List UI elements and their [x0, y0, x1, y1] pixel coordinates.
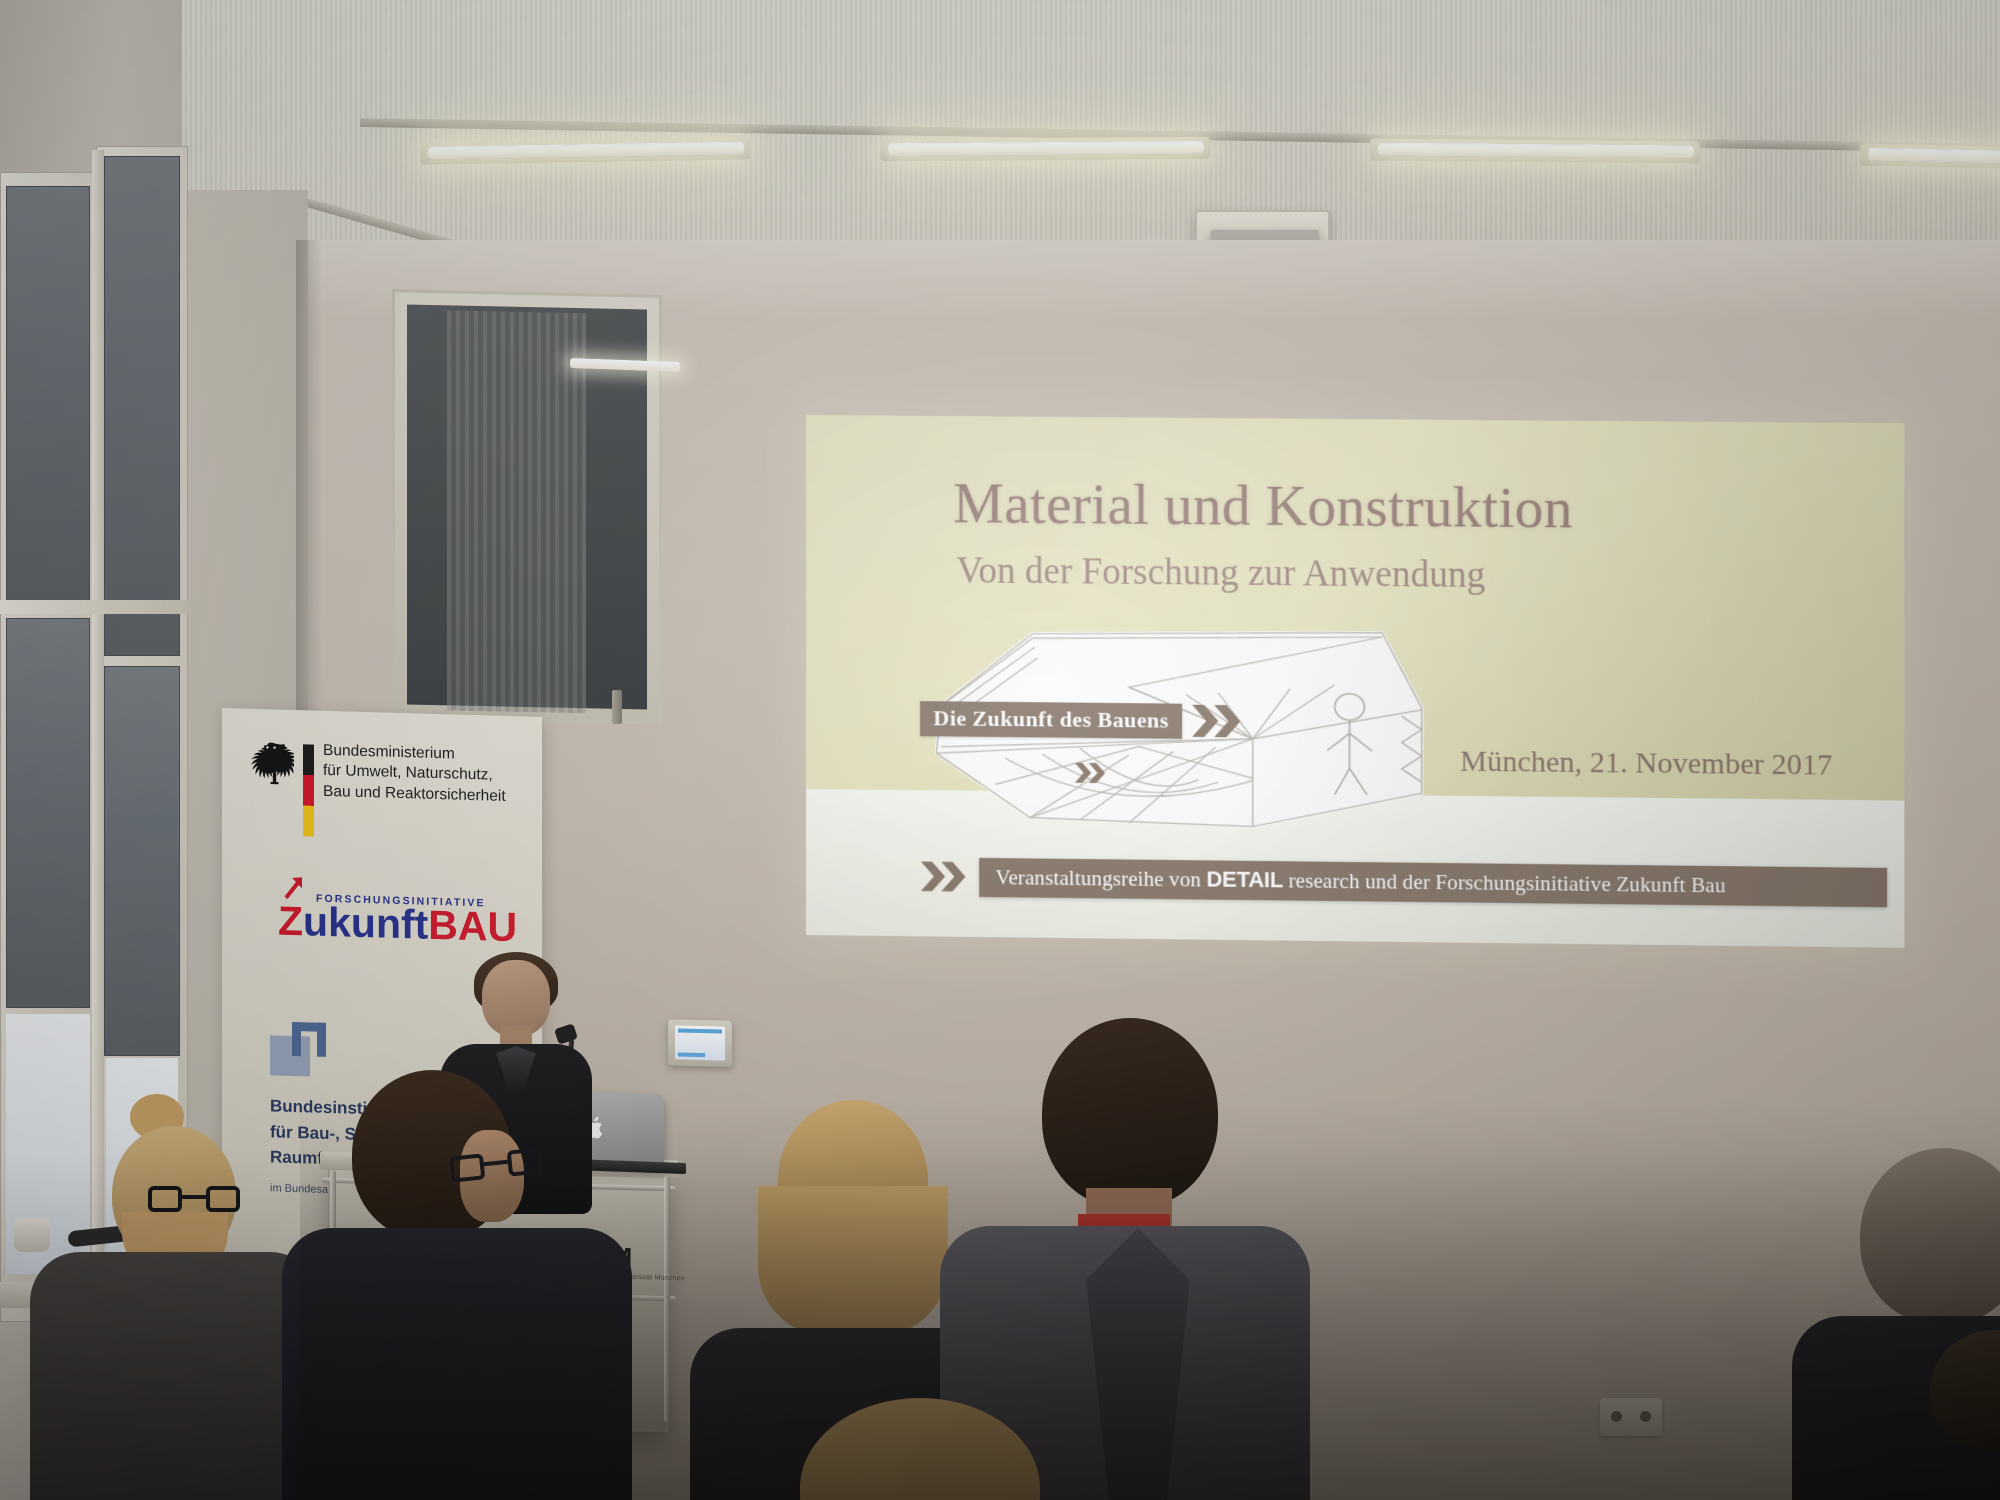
zukunftbau-ukunft: ukunft: [303, 898, 428, 947]
curtain: [447, 310, 586, 713]
fluorescent-tube-light: [888, 141, 1204, 156]
zukunftbau-bau: BAU: [428, 902, 517, 950]
german-flag-bar-icon: [303, 744, 314, 836]
touchpanel-titlebar: [678, 1028, 722, 1033]
interior-glazed-door[interactable]: [392, 289, 662, 725]
door-handle[interactable]: [612, 690, 622, 724]
presenter-head: [482, 960, 550, 1036]
touchpanel-screen[interactable]: [675, 1025, 725, 1060]
series-badge-label: Die Zukunft des Bauens: [920, 701, 1181, 739]
zukunftbau-logo: FORSCHUNGSINITIATIVE ZukunftBAU: [278, 892, 517, 949]
tall-glazed-window: [104, 666, 180, 1056]
fluorescent-tube-light: [1378, 143, 1694, 159]
slide-subtitle: Von der Forschung zur Anwendung: [956, 549, 1485, 597]
zukunftbau-z: Z: [278, 898, 303, 945]
ministry-name: Bundesministerium für Umwelt, Naturschut…: [323, 741, 506, 807]
tall-glazed-window: [6, 186, 90, 606]
footer-suffix: research und der Forschungsinitiative Zu…: [1283, 868, 1726, 897]
wall-lower-shading: [300, 1100, 2000, 1500]
slide-title: Material und Konstruktion: [953, 471, 1573, 541]
double-chevron-icon-footer: [919, 859, 969, 896]
slide-date-location: München, 21. November 2017: [1460, 745, 1832, 783]
double-chevron-icon-small: [1073, 761, 1107, 785]
tall-glazed-window: [104, 156, 180, 656]
zukunftbau-wordmark: ZukunftBAU: [278, 901, 517, 949]
av-control-touchpanel[interactable]: [668, 1019, 732, 1067]
tall-glazed-window: [6, 618, 90, 1008]
audience-member-blonde-bun-left: [30, 1100, 310, 1500]
german-federal-eagle-icon: [248, 739, 294, 788]
footer-prefix: Veranstaltungsreihe von: [996, 865, 1207, 891]
footer-brand: DETAIL: [1206, 866, 1283, 892]
body: [30, 1252, 320, 1500]
touchpanel-footerbar: [678, 1052, 705, 1057]
window-transom: [0, 600, 190, 614]
lens-left: [148, 1186, 182, 1212]
red-arrow-icon: [283, 875, 305, 900]
lecture-hall-photo: Material und Konstruktion Von der Forsch…: [0, 0, 2000, 1500]
double-chevron-icon: [1190, 702, 1244, 741]
eyeglasses-icon: [148, 1186, 240, 1212]
projected-title-slide: Material und Konstruktion Von der Forsch…: [806, 415, 1904, 948]
ministry-logo-group: Bundesministerium für Umwelt, Naturschut…: [248, 739, 506, 842]
bbsr-square-edge: [292, 1022, 326, 1057]
lens-right: [206, 1186, 240, 1212]
ministry-line-3: Bau und Reaktorsicherheit: [323, 782, 506, 808]
glasses-bridge: [182, 1195, 206, 1199]
series-badge-group: Die Zukunft des Bauens: [920, 700, 1244, 741]
